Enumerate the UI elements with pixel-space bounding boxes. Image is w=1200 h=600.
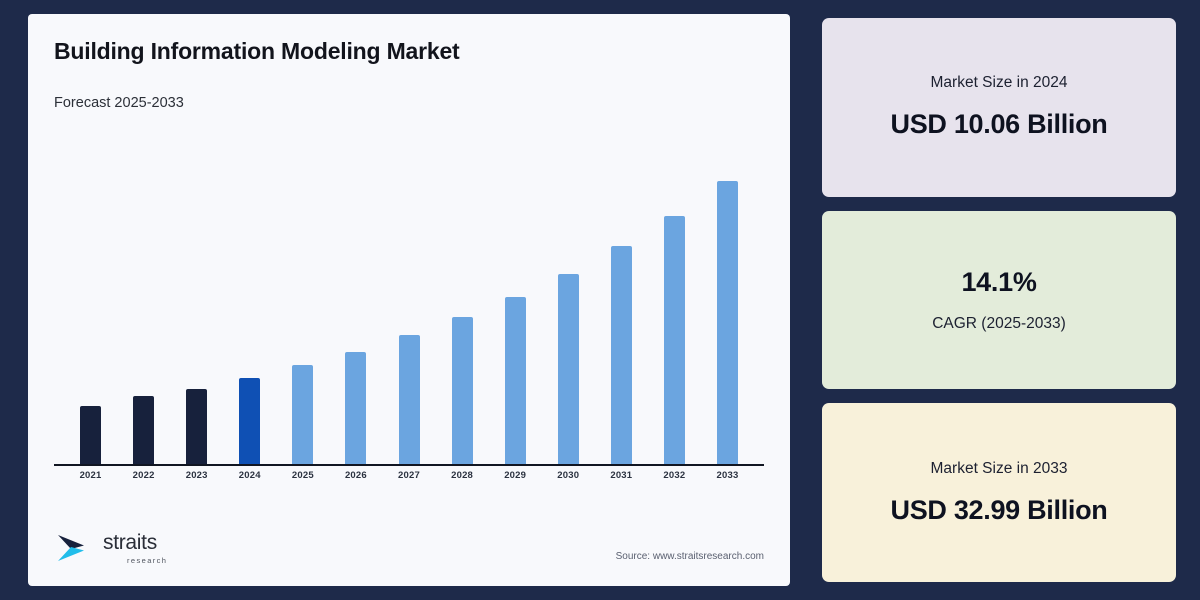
bar-2027[interactable]	[399, 335, 420, 464]
x-axis-label-2032: 2032	[648, 470, 701, 481]
x-axis-label-2030: 2030	[542, 470, 595, 481]
stat-card-caption: CAGR (2025-2033)	[932, 315, 1066, 333]
bar-2022[interactable]	[133, 396, 154, 464]
bar-slot-2024[interactable]	[223, 164, 276, 464]
bar-2029[interactable]	[505, 297, 526, 464]
bar-2032[interactable]	[664, 216, 685, 464]
bar-slot-2028[interactable]	[436, 164, 489, 464]
logo-text: straits research	[103, 532, 167, 565]
bar-slot-2027[interactable]	[382, 164, 435, 464]
bar-slot-2031[interactable]	[595, 164, 648, 464]
x-axis-line	[54, 464, 764, 466]
bar-series	[54, 164, 764, 464]
bar-2028[interactable]	[452, 317, 473, 464]
chart-subtitle: Forecast 2025-2033	[54, 95, 764, 111]
bar-slot-2025[interactable]	[276, 164, 329, 464]
bar-2031[interactable]	[611, 246, 632, 464]
stat-card-value: USD 10.06 Billion	[891, 109, 1108, 140]
straits-research-logo: straits research	[54, 528, 167, 568]
chart-panel: Building Information Modeling Market For…	[28, 14, 790, 586]
bar-2030[interactable]	[558, 274, 579, 464]
bar-slot-2021[interactable]	[64, 164, 117, 464]
bar-slot-2023[interactable]	[170, 164, 223, 464]
chart-footer: straits research Source: www.straitsrese…	[54, 528, 764, 568]
logo-subtext: research	[127, 556, 167, 565]
x-axis-label-2031: 2031	[595, 470, 648, 481]
bar-2024[interactable]	[239, 378, 260, 464]
stat-cards-column: Market Size in 2024USD 10.06 Billion14.1…	[822, 14, 1176, 586]
bar-2023[interactable]	[186, 389, 207, 464]
bar-chart-plot-area	[54, 164, 764, 466]
stat-card-value: 14.1%	[961, 267, 1036, 298]
x-axis-label-2029: 2029	[489, 470, 542, 481]
bar-2026[interactable]	[345, 352, 366, 464]
stat-card-cagr: 14.1%CAGR (2025-2033)	[822, 211, 1176, 390]
bar-2033[interactable]	[717, 181, 738, 464]
stat-card-caption: Market Size in 2033	[931, 460, 1068, 478]
x-axis-tick-labels: 2021202220232024202520262027202820292030…	[54, 470, 764, 481]
stat-card-market-size-2033: Market Size in 2033USD 32.99 Billion	[822, 403, 1176, 582]
bar-2025[interactable]	[292, 365, 313, 464]
bar-slot-2026[interactable]	[329, 164, 382, 464]
x-axis-label-2026: 2026	[329, 470, 382, 481]
bar-2021[interactable]	[80, 406, 101, 464]
x-axis-label-2022: 2022	[117, 470, 170, 481]
x-axis-label-2033: 2033	[701, 470, 754, 481]
page-title: Building Information Modeling Market	[54, 38, 764, 66]
x-axis-label-2025: 2025	[276, 470, 329, 481]
logo-wordmark: straits	[103, 532, 157, 553]
bar-slot-2022[interactable]	[117, 164, 170, 464]
x-axis-label-2028: 2028	[436, 470, 489, 481]
x-axis-label-2024: 2024	[223, 470, 276, 481]
stat-card-value: USD 32.99 Billion	[891, 495, 1108, 526]
bar-slot-2029[interactable]	[489, 164, 542, 464]
x-axis-label-2021: 2021	[64, 470, 117, 481]
stat-card-market-size-2024: Market Size in 2024USD 10.06 Billion	[822, 18, 1176, 197]
bar-slot-2033[interactable]	[701, 164, 754, 464]
source-note: Source: www.straitsresearch.com	[616, 551, 764, 568]
stat-card-caption: Market Size in 2024	[931, 74, 1068, 92]
x-axis-label-2023: 2023	[170, 470, 223, 481]
bar-slot-2032[interactable]	[648, 164, 701, 464]
x-axis-label-2027: 2027	[382, 470, 435, 481]
bar-slot-2030[interactable]	[542, 164, 595, 464]
straits-arrow-icon	[54, 528, 94, 568]
